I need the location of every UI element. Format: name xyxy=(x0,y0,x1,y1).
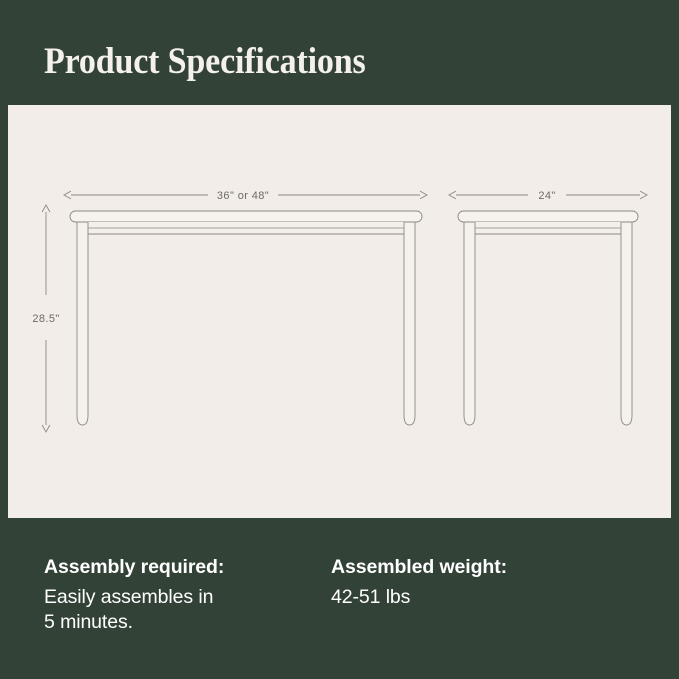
dimension-diagram-svg: 36" or 48" 28.5" xyxy=(8,105,671,518)
footer-spec-list: Assembly required: Easily assembles in 5… xyxy=(0,518,679,679)
header-bar: Product Specifications xyxy=(0,0,679,105)
width-dimension-side: 24" xyxy=(456,190,640,202)
width-dimension-label-front: 36" or 48" xyxy=(217,190,269,202)
table-side-view: 24" xyxy=(456,190,640,425)
spec-value-assembled-weight: 42-51 lbs xyxy=(331,585,631,610)
spec-value-assembly-required: Easily assembles in 5 minutes. xyxy=(44,585,314,635)
width-dimension-label-side: 24" xyxy=(538,190,555,202)
spec-value-line-1: Easily assembles in xyxy=(44,585,314,610)
width-dimension-front: 36" or 48" xyxy=(71,190,420,202)
spec-value-line-1: 42-51 lbs xyxy=(331,585,631,610)
leg-side-right xyxy=(621,222,632,425)
tabletop-slab-side xyxy=(458,211,638,222)
product-specifications-card: Product Specifications 36" or 48" xyxy=(0,0,679,679)
height-dimension-label: 28.5" xyxy=(32,313,59,325)
spec-label-assembled-weight: Assembled weight: xyxy=(331,554,631,580)
spec-label-assembly-required: Assembly required: xyxy=(44,554,314,580)
spec-value-line-2: 5 minutes. xyxy=(44,610,314,635)
spec-item-assembly-required: Assembly required: Easily assembles in 5… xyxy=(44,554,314,635)
table-front-view: 36" or 48" 28.5" xyxy=(32,190,422,425)
page-title: Product Specifications xyxy=(44,40,366,83)
leg-front-left xyxy=(77,222,88,425)
dimension-diagram-panel: 36" or 48" 28.5" xyxy=(8,105,671,518)
leg-side-left xyxy=(464,222,475,425)
tabletop-slab-front xyxy=(70,211,422,222)
spec-item-assembled-weight: Assembled weight: 42-51 lbs xyxy=(331,554,631,610)
leg-front-right xyxy=(404,222,415,425)
height-dimension-front: 28.5" xyxy=(32,212,59,425)
